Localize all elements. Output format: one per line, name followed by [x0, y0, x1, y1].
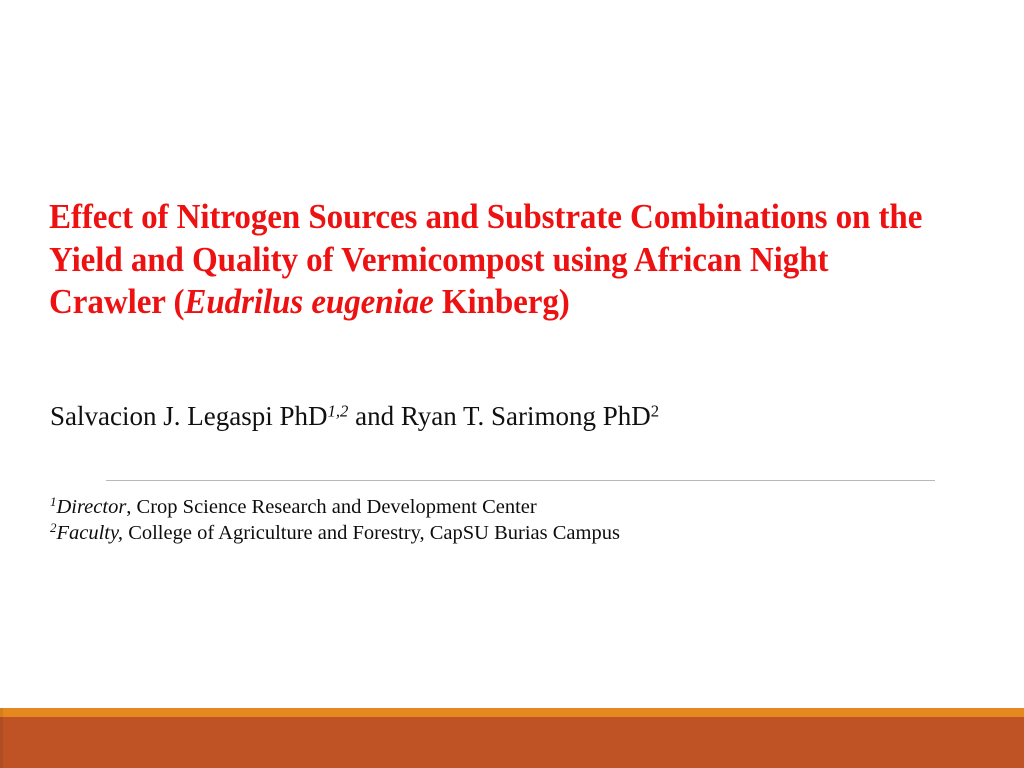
- affiliation-line: 2Faculty, College of Agriculture and For…: [50, 521, 620, 547]
- author-1-name: Salvacion J. Legaspi PhD: [50, 401, 327, 431]
- title-species-name: Eudrilus eugeniae: [184, 282, 433, 321]
- page-title: Effect of Nitrogen Sources and Substrate…: [49, 196, 928, 324]
- affiliation-role: Faculty,: [56, 522, 123, 544]
- horizontal-rule: [106, 480, 935, 481]
- affiliation-role: Director: [56, 496, 126, 518]
- footer-accent-bar-rust: [0, 717, 1024, 768]
- slide-canvas: Effect of Nitrogen Sources and Substrate…: [0, 0, 1024, 768]
- author-1-affiliation-marker: 1,2: [327, 401, 348, 420]
- affiliation-organization: , Crop Science Research and Development …: [126, 496, 536, 518]
- title-line-3-suffix: Kinberg): [434, 282, 570, 321]
- footer-left-edge-shadow: [0, 708, 3, 768]
- affiliation-line: 1Director, Crop Science Research and Dev…: [50, 495, 620, 521]
- affiliation-organization: College of Agriculture and Forestry, Cap…: [123, 522, 620, 544]
- author-2-affiliation-marker: 2: [651, 401, 659, 420]
- title-line-1: Effect of Nitrogen Sources and Substrate…: [49, 197, 827, 236]
- title-block: Effect of Nitrogen Sources and Substrate…: [49, 196, 979, 324]
- author-line: Salvacion J. Legaspi PhD1,2 and Ryan T. …: [50, 400, 659, 432]
- footer-accent-bar-orange: [0, 708, 1024, 717]
- affiliation-block: 1Director, Crop Science Research and Dev…: [50, 495, 620, 546]
- author-2-name: Ryan T. Sarimong PhD: [401, 401, 651, 431]
- author-conjunction: and: [348, 401, 400, 431]
